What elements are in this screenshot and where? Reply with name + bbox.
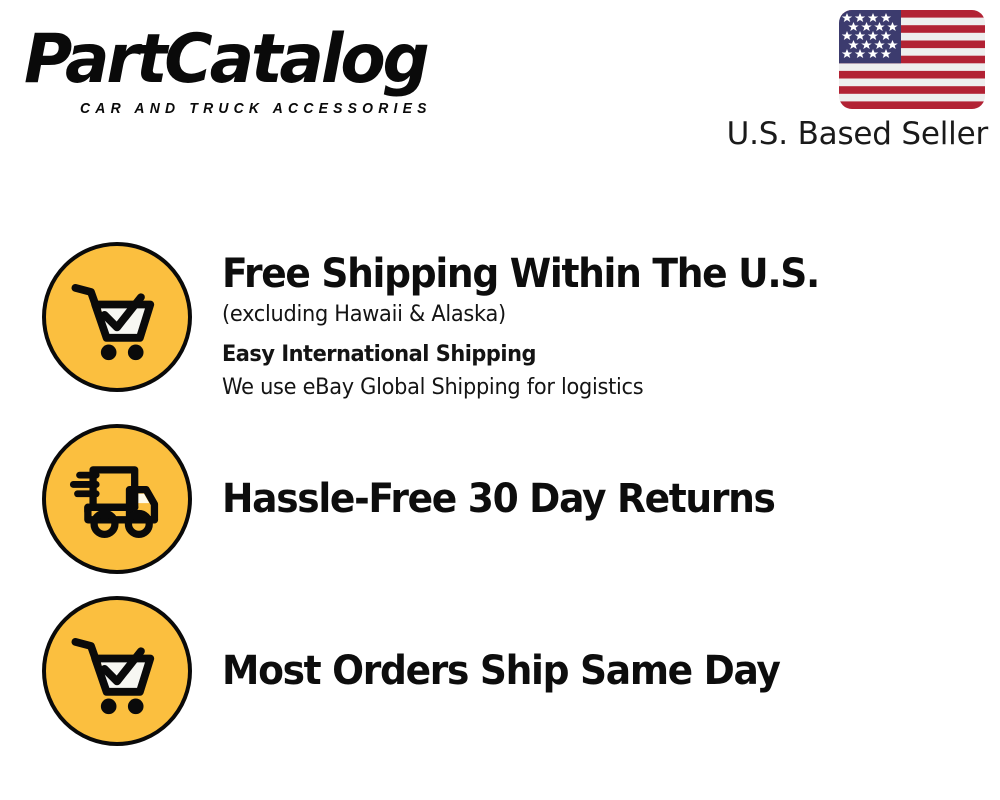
brand-wordmark: PartCatalog: [24, 24, 427, 96]
feature-heading: Free Shipping Within The U.S.: [222, 250, 953, 298]
shopping-cart-check-icon: [65, 265, 169, 369]
feature-heading: Most Orders Ship Same Day: [222, 647, 953, 695]
feature-subtext: Easy International Shipping: [222, 339, 961, 371]
brand-logo[interactable]: PartCatalog CAR AND TRUCK ACCESSORIES: [24, 24, 494, 116]
us-flag-icon: [839, 10, 985, 109]
feature-subtext: We use eBay Global Shipping for logistic…: [222, 372, 961, 404]
delivery-truck-icon: [65, 447, 169, 551]
shopping-cart-check-icon: [65, 619, 169, 723]
shopping-cart-check-icon-badge: [42, 596, 192, 746]
feature-row: Hassle-Free 30 Day Returns: [0, 414, 1000, 584]
seller-label: U.S. Based Seller: [718, 117, 988, 151]
feature-text-block: Most Orders Ship Same Day: [222, 647, 1000, 695]
feature-subtext: (excluding Hawaii & Alaska): [222, 299, 961, 331]
feature-heading: Hassle-Free 30 Day Returns: [222, 475, 953, 523]
feature-row: Most Orders Ship Same Day: [0, 586, 1000, 756]
feature-row: Free Shipping Within The U.S. (excluding…: [0, 242, 1000, 412]
shopping-cart-check-icon-badge: [42, 242, 192, 392]
feature-text-block: Hassle-Free 30 Day Returns: [222, 475, 1000, 523]
delivery-truck-icon-badge: [42, 424, 192, 574]
us-based-seller-badge: U.S. Based Seller: [718, 10, 988, 151]
feature-text-block: Free Shipping Within The U.S. (excluding…: [222, 250, 1000, 404]
brand-tagline: CAR AND TRUCK ACCESSORIES: [80, 100, 432, 118]
page-header: PartCatalog CAR AND TRUCK ACCESSORIES: [0, 0, 1000, 175]
